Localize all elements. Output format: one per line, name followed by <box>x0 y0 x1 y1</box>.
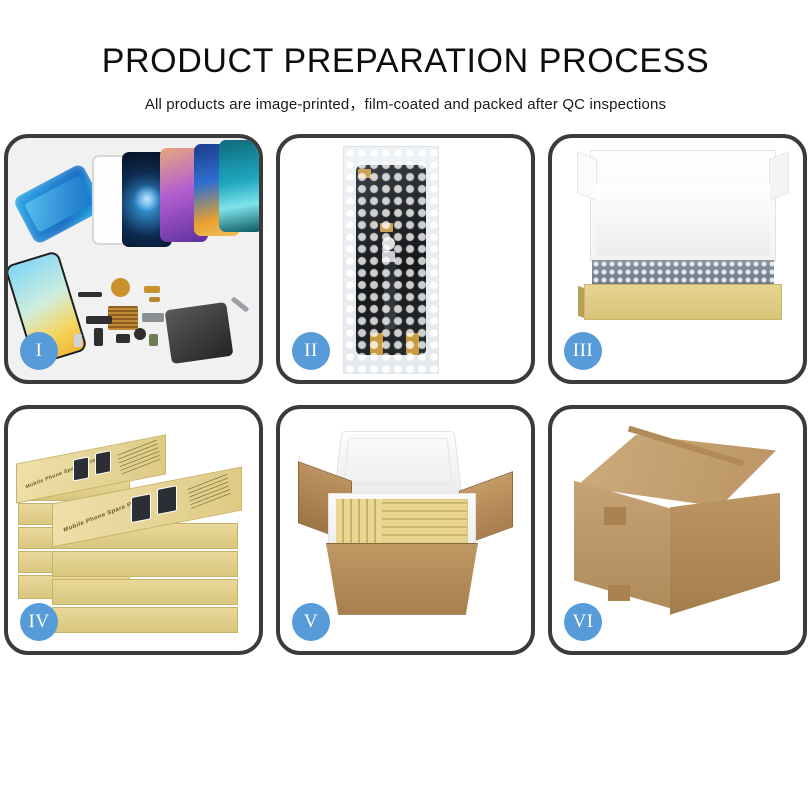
earpiece-part-icon <box>78 292 102 297</box>
bubble-wrap-bag <box>343 146 439 374</box>
camera-module-icon <box>382 237 395 250</box>
tape-piece-icon <box>358 169 371 178</box>
chip-grid-icon <box>108 306 138 330</box>
step-badge-1: I <box>20 332 58 370</box>
bubble-wrap-layer-icon <box>592 260 774 286</box>
gold-connector-icon <box>406 333 419 355</box>
stacked-box-item <box>52 607 238 633</box>
process-step-card-3: III <box>548 134 807 384</box>
yellow-box-body-icon <box>584 284 782 320</box>
inner-boxes-side-icon <box>336 499 382 543</box>
box-spec-lines <box>187 473 230 509</box>
step-badge-4: IV <box>20 603 58 641</box>
box-thumbnail-icon <box>157 485 177 515</box>
battery-tab-icon <box>149 334 158 346</box>
page-title: PRODUCT PREPARATION PROCESS <box>0 44 811 80</box>
sim-tray-icon <box>74 334 82 347</box>
process-step-card-1: I <box>4 134 263 384</box>
camera-module-icon <box>86 316 112 324</box>
process-step-card-2: II <box>276 134 535 384</box>
connector-icon <box>149 297 160 302</box>
connector-icon <box>382 251 395 262</box>
process-step-card-4: Mobile Phone Spare Parts Mobile Phone Sp… <box>4 405 263 655</box>
box-thumbnail-icon <box>131 493 151 523</box>
carton-body-icon <box>326 543 478 615</box>
box-spec-lines <box>117 438 160 474</box>
button-part-icon <box>116 334 130 343</box>
tape-piece-icon <box>380 223 393 232</box>
back-housing-icon <box>165 302 234 364</box>
screwdriver-icon <box>231 296 250 312</box>
tape-patch-icon <box>608 585 630 601</box>
stacked-box-item <box>52 579 238 605</box>
box-stack: Mobile Phone Spare Parts Mobile Phone Sp… <box>16 427 256 639</box>
step-badge-2: II <box>292 332 330 370</box>
infographic-page: PRODUCT PREPARATION PROCESS All products… <box>0 0 811 811</box>
step-badge-6: VI <box>564 603 602 641</box>
step-badge-5: V <box>292 603 330 641</box>
foam-sheet-icon <box>596 184 770 256</box>
foam-lid-icon <box>334 431 462 492</box>
step-badge-3: III <box>564 332 602 370</box>
process-step-card-6: VI <box>548 405 807 655</box>
process-step-grid: I II <box>11 134 801 655</box>
box-thumbnail-icon <box>95 450 111 475</box>
speaker-part-icon <box>111 278 130 297</box>
stacked-box-item <box>52 551 238 577</box>
bracket-icon <box>142 313 164 322</box>
page-subtitle: All products are image-printed，film-coat… <box>0 93 811 114</box>
phone-teal-icon <box>219 140 263 232</box>
flex-cable-icon <box>144 286 160 293</box>
gold-connector-icon <box>370 333 383 355</box>
process-step-card-5: V <box>276 405 535 655</box>
header: PRODUCT PREPARATION PROCESS All products… <box>0 0 811 114</box>
home-button-icon <box>134 328 146 340</box>
tape-patch-icon <box>604 507 626 525</box>
carton-right-face-icon <box>670 493 780 615</box>
box-thumbnail-icon <box>73 456 89 481</box>
ribbon-cable-icon <box>94 328 103 346</box>
